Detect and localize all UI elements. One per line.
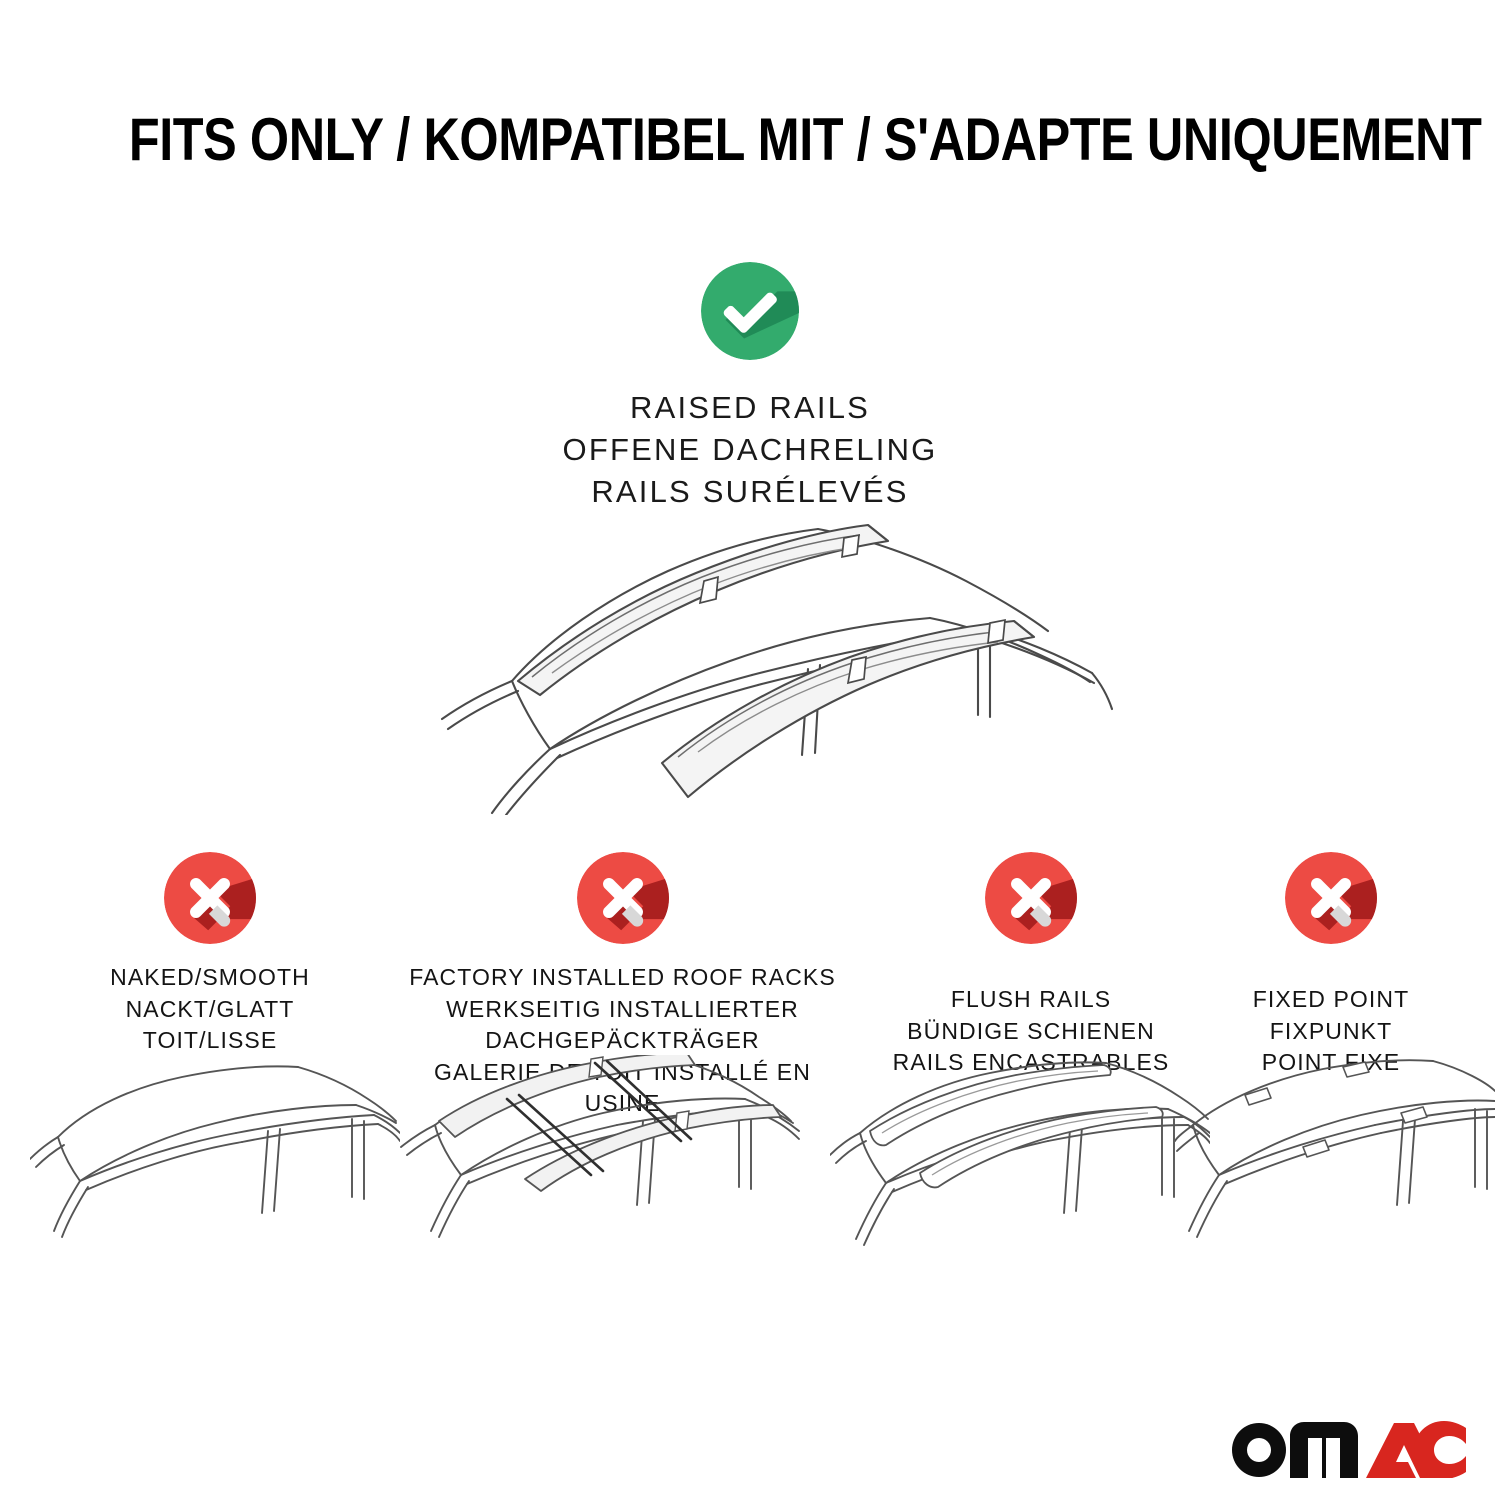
incompatible-row: NAKED/SMOOTH NACKT/GLATT TOIT/LISSE FACT…	[0, 852, 1500, 1052]
caption-line-2: FIXPUNKT	[1205, 1016, 1457, 1048]
compatible-line-1: RAISED RAILS	[0, 387, 1500, 429]
caption-line-3: TOIT/LISSE	[40, 1025, 380, 1057]
caption-line-1: FIXED POINT	[1205, 984, 1457, 1016]
incompatible-item-fixed-point: FIXED POINT FIXPUNKT POINT FIXE	[1205, 852, 1457, 1079]
caption-line-2: WERKSEITIG INSTALLIERTER	[395, 994, 850, 1026]
compatible-line-2: OFFENE DACHRELING	[0, 429, 1500, 471]
page-title: FITS ONLY / KOMPATIBEL MIT / S'ADAPTE UN…	[0, 104, 1500, 176]
compatible-caption: RAISED RAILS OFFENE DACHRELING RAILS SUR…	[0, 387, 1500, 513]
x-circle-icon	[164, 852, 256, 944]
incompatible-illustration-row	[0, 1055, 1500, 1335]
car-roof-flush-rails-illustration	[830, 1055, 1210, 1335]
incompatible-caption: NAKED/SMOOTH NACKT/GLATT TOIT/LISSE	[40, 962, 380, 1057]
x-circle-icon	[985, 852, 1077, 944]
caption-line-2: BÜNDIGE SCHIENEN	[860, 1016, 1202, 1048]
car-roof-fixed-point-illustration	[1175, 1055, 1495, 1335]
compatible-block: RAISED RAILS OFFENE DACHRELING RAILS SUR…	[0, 262, 1500, 513]
page-title-text: FITS ONLY / KOMPATIBEL MIT / S'ADAPTE UN…	[129, 104, 1482, 176]
incompatible-item-naked-smooth: NAKED/SMOOTH NACKT/GLATT TOIT/LISSE	[40, 852, 380, 1057]
check-circle-icon	[701, 262, 799, 360]
caption-line-1: FACTORY INSTALLED ROOF RACKS	[395, 962, 850, 994]
car-roof-naked-smooth-illustration	[30, 1055, 400, 1335]
omac-logo: OMAC	[1228, 1412, 1466, 1478]
caption-line-1: NAKED/SMOOTH	[40, 962, 380, 994]
x-circle-icon	[1285, 852, 1377, 944]
x-circle-icon	[577, 852, 669, 944]
caption-line-1: FLUSH RAILS	[860, 984, 1202, 1016]
caption-line-3: DACHGEPÄCKTRÄGER	[395, 1025, 850, 1057]
caption-line-2: NACKT/GLATT	[40, 994, 380, 1026]
car-roof-factory-racks-illustration	[395, 1055, 820, 1335]
car-roof-raised-rails-illustration	[400, 505, 1120, 815]
incompatible-item-flush-rails: FLUSH RAILS BÜNDIGE SCHIENEN RAILS ENCAS…	[860, 852, 1202, 1079]
